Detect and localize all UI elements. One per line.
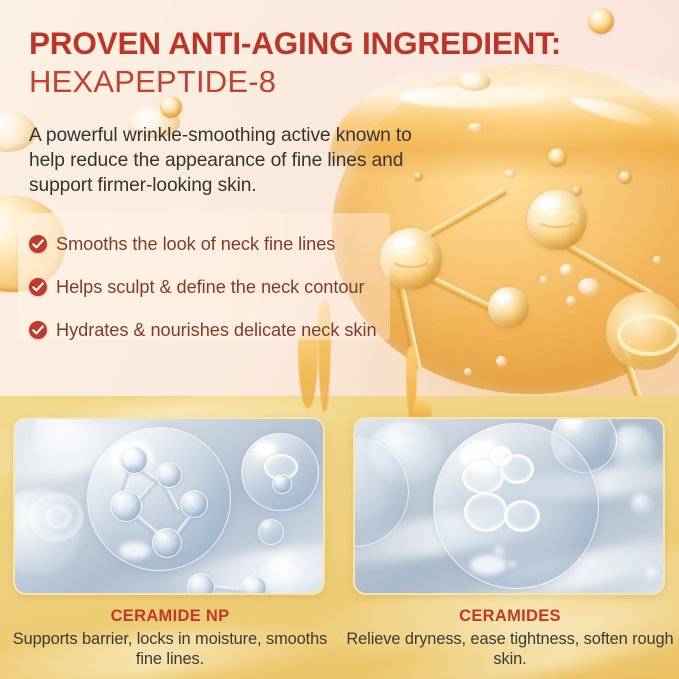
micro-bubble — [494, 546, 506, 558]
oil-drop-icon — [560, 264, 573, 277]
oil-drop-icon — [540, 276, 548, 284]
ingredient-title: CERAMIDES — [345, 607, 675, 625]
oil-drop-icon — [504, 170, 516, 178]
page-title: PROVEN ANTI-AGING INGREDIENT: — [29, 27, 657, 60]
glass-bubble-main — [433, 423, 599, 589]
glass-bubble-main — [87, 427, 231, 571]
bokeh-circle — [631, 493, 653, 515]
oil-drop-icon — [468, 123, 484, 132]
molecule-atom — [156, 462, 182, 488]
micro-bubble — [508, 560, 517, 569]
hero-section: PROVEN ANTI-AGING INGREDIENT: HEXAPEPTID… — [0, 0, 679, 397]
molecule-ring — [490, 446, 512, 466]
oil-drop-icon — [566, 296, 576, 306]
bokeh-circle — [261, 553, 317, 595]
benefit-item: Hydrates & nourishes delicate neck skin — [29, 313, 429, 347]
ceramide-np-molecule-photo — [15, 419, 323, 593]
specular-highlight-icon — [562, 417, 581, 427]
check-circle-icon — [29, 235, 47, 253]
ingredient-card-ceramides — [353, 417, 665, 595]
molecule-sphere — [488, 287, 529, 328]
oil-drop-icon — [578, 278, 600, 296]
bokeh-circle — [645, 567, 659, 581]
product-infographic: PROVEN ANTI-AGING INGREDIENT: HEXAPEPTID… — [0, 0, 679, 679]
benefit-label: Smooths the look of neck fine lines — [56, 234, 335, 254]
benefits-list: Smooths the look of neck fine lines Help… — [29, 227, 429, 356]
molecule-atom — [187, 573, 215, 595]
molecule-atom — [180, 490, 208, 518]
ingredient-card-ceramide-np — [13, 417, 325, 595]
benefit-label: Hydrates & nourishes delicate neck skin — [56, 320, 377, 340]
oil-drop-icon — [653, 256, 661, 264]
molecule-atom — [120, 446, 148, 474]
oil-drop-icon — [496, 356, 507, 367]
oil-drop-icon — [464, 368, 472, 376]
benefit-label: Helps sculpt & define the neck contour — [56, 277, 364, 297]
molecule-ring — [504, 500, 540, 532]
molecule-atom — [272, 474, 292, 494]
glass-bubble — [241, 433, 319, 511]
benefit-item: Helps sculpt & define the neck contour — [29, 270, 429, 304]
specular-highlight-icon — [470, 555, 506, 575]
glass-bubble — [258, 519, 284, 545]
molecule-atom — [152, 528, 182, 558]
ceramides-bubble-photo — [355, 419, 663, 593]
ingredient-description: Supports barrier, locks in moisture, smo… — [5, 629, 335, 669]
molecule-ring — [45, 505, 71, 529]
specular-highlight-icon — [119, 542, 150, 559]
caption-ceramides: CERAMIDES Relieve dryness, ease tightnes… — [345, 607, 675, 669]
title-block: PROVEN ANTI-AGING INGREDIENT: HEXAPEPTID… — [29, 27, 657, 99]
molecule-sphere — [527, 190, 587, 250]
molecule-atom — [241, 575, 267, 595]
caption-ceramide-np: CERAMIDE NP Supports barrier, locks in m… — [5, 607, 335, 669]
molecule-atom — [110, 490, 142, 522]
check-circle-icon — [29, 321, 47, 339]
sphere-swirl-icon — [535, 208, 578, 228]
molecule-ring-sphere — [606, 292, 679, 370]
ingredient-title: CERAMIDE NP — [5, 607, 335, 625]
ingredient-description: Relieve dryness, ease tightness, soften … — [345, 629, 675, 669]
oil-drop-icon — [619, 171, 632, 184]
check-circle-icon — [29, 278, 47, 296]
benefit-item: Smooths the look of neck fine lines — [29, 227, 429, 261]
hero-description: A powerful wrinkle-smoothing active know… — [29, 124, 429, 199]
molecule-ring — [464, 492, 508, 532]
page-subtitle: HEXAPEPTIDE-8 — [29, 65, 657, 99]
sphere-highlight-icon — [497, 293, 511, 303]
oil-drop-icon — [548, 148, 567, 167]
specular-highlight-icon — [263, 522, 270, 527]
